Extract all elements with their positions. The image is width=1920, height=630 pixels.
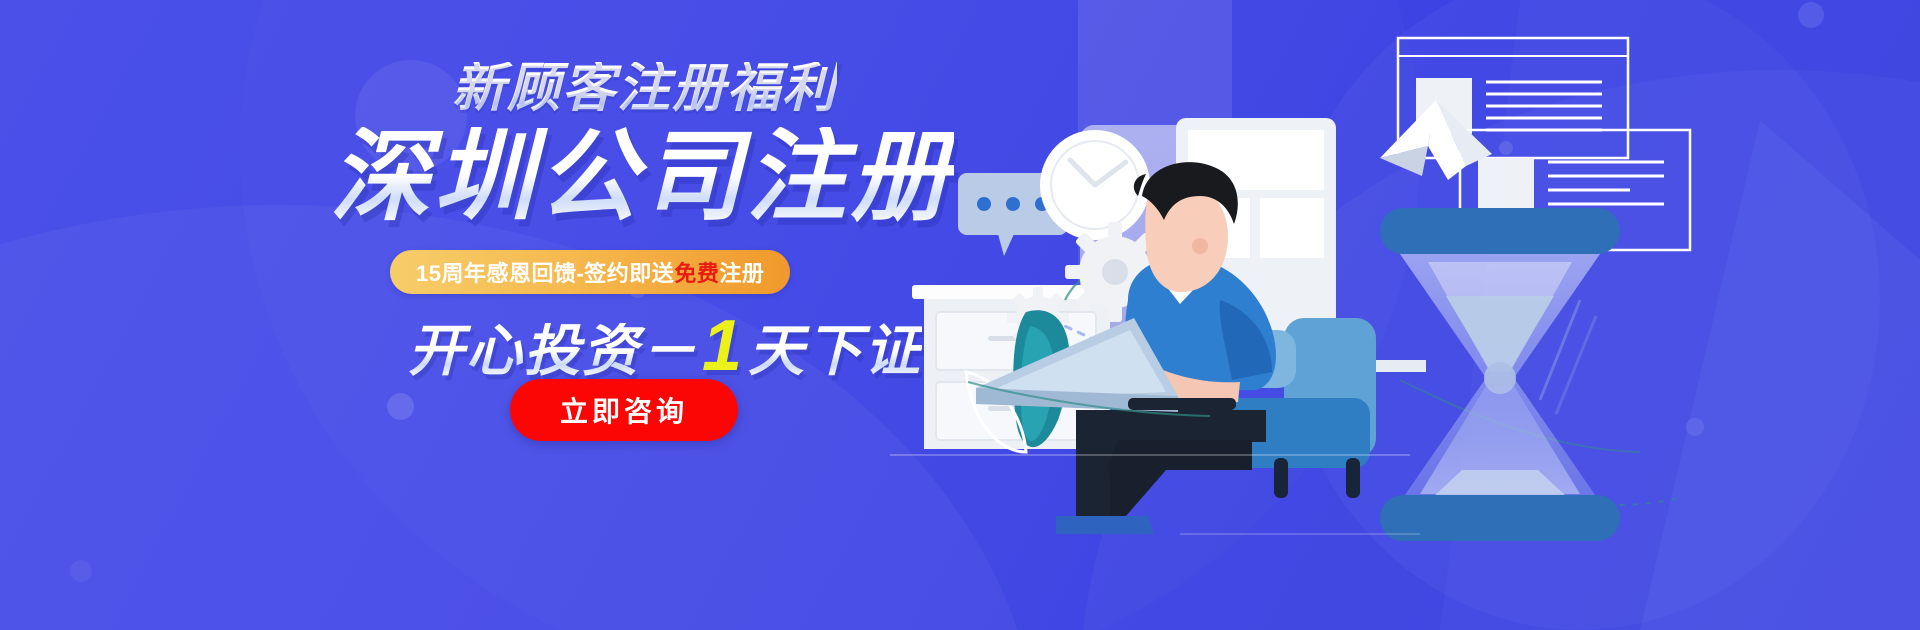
page-title: 深圳公司注册 — [330, 127, 954, 227]
tagline: 开心投资－1天下证 — [408, 310, 922, 382]
promo-badge: 15周年感恩回馈-签约即送免费注册 — [390, 250, 790, 294]
copy-block: 新顾客注册福利 深圳公司注册 15周年感恩回馈-签约即送免费注册 开心投资－1天… — [0, 0, 960, 630]
promo-badge-suffix: 注册 — [719, 256, 764, 288]
kicker-text: 新顾客注册福利 — [452, 62, 837, 115]
clock-icon — [1040, 130, 1150, 240]
hero-illustration — [880, 0, 1920, 630]
tagline-number: 1 — [698, 310, 748, 382]
promo-badge-highlight: 免费 — [674, 256, 719, 288]
promo-banner: 新顾客注册福利 深圳公司注册 15周年感恩回馈-签约即送免费注册 开心投资－1天… — [0, 0, 1920, 630]
consult-now-label: 立即咨询 — [560, 390, 688, 430]
consult-now-button[interactable]: 立即咨询 — [510, 379, 738, 441]
tagline-before: 开心投资－ — [408, 323, 698, 379]
promo-badge-prefix: 15周年感恩回馈-签约即送 — [416, 256, 674, 288]
